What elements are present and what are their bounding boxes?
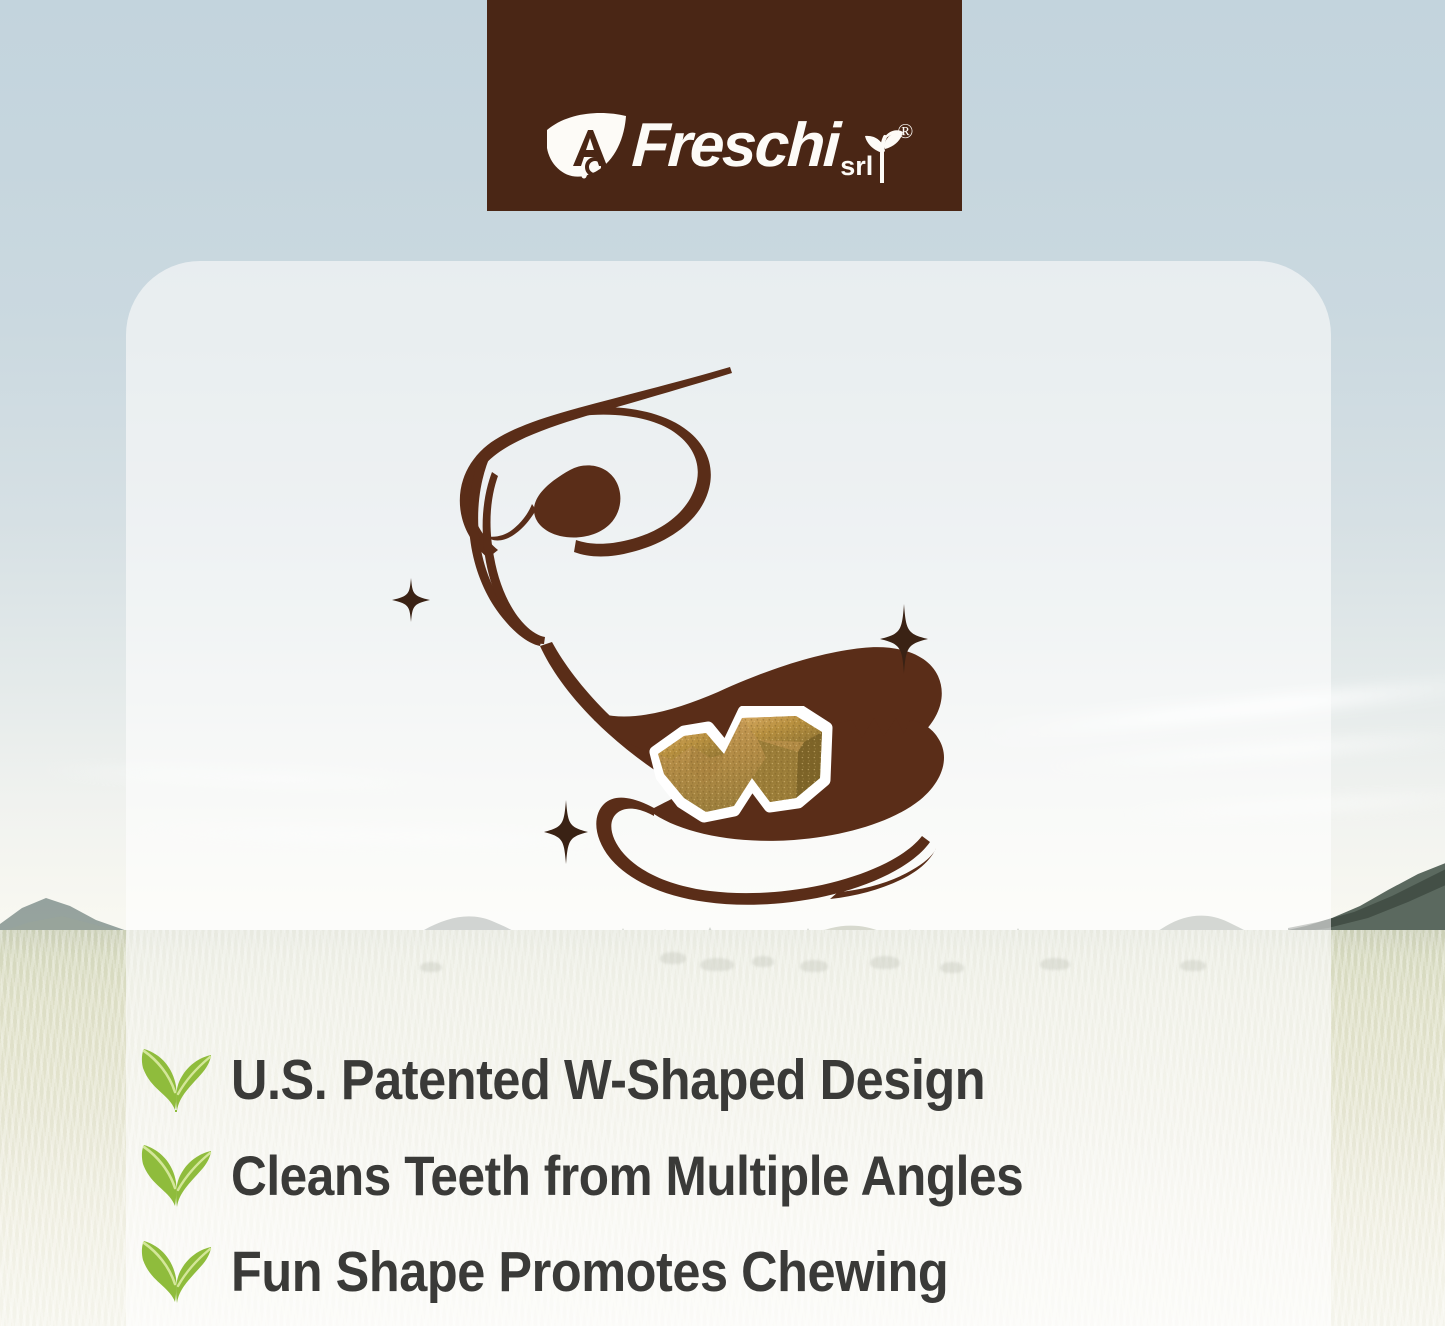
sparkle-left-lower (544, 800, 588, 864)
bullet-label: U.S. Patented W-Shaped Design (231, 1050, 985, 1110)
bullet-item: Fun Shape Promotes Chewing (139, 1235, 1339, 1309)
leaf-a-monogram-icon (544, 110, 630, 182)
sparkle-right (880, 604, 928, 674)
leaf-pair-icon (139, 1144, 213, 1208)
w-shaped-chew-treat: W (648, 706, 844, 828)
brand-wordmark: Freschi (630, 115, 840, 177)
product-feature-image: Freschi srl ® (0, 0, 1445, 1326)
sparkle-left-upper (392, 578, 430, 622)
bullet-item: Cleans Teeth from Multiple Angles (139, 1139, 1339, 1213)
registered-trademark-symbol: ® (897, 121, 913, 142)
bullet-label: Cleans Teeth from Multiple Angles (231, 1146, 1023, 1206)
bullet-item: U.S. Patented W-Shaped Design (139, 1043, 1339, 1117)
feature-bullet-list: U.S. Patented W-Shaped Design Cleans Tee… (139, 1043, 1339, 1326)
bullet-label: Fun Shape Promotes Chewing (231, 1242, 948, 1302)
brand-logo-bar: Freschi srl ® (487, 0, 962, 211)
brand-lockup: Freschi srl ® (544, 109, 906, 183)
leaf-pair-icon (139, 1048, 213, 1112)
leaf-pair-icon (139, 1240, 213, 1304)
sprout-icon: ® (863, 127, 905, 183)
